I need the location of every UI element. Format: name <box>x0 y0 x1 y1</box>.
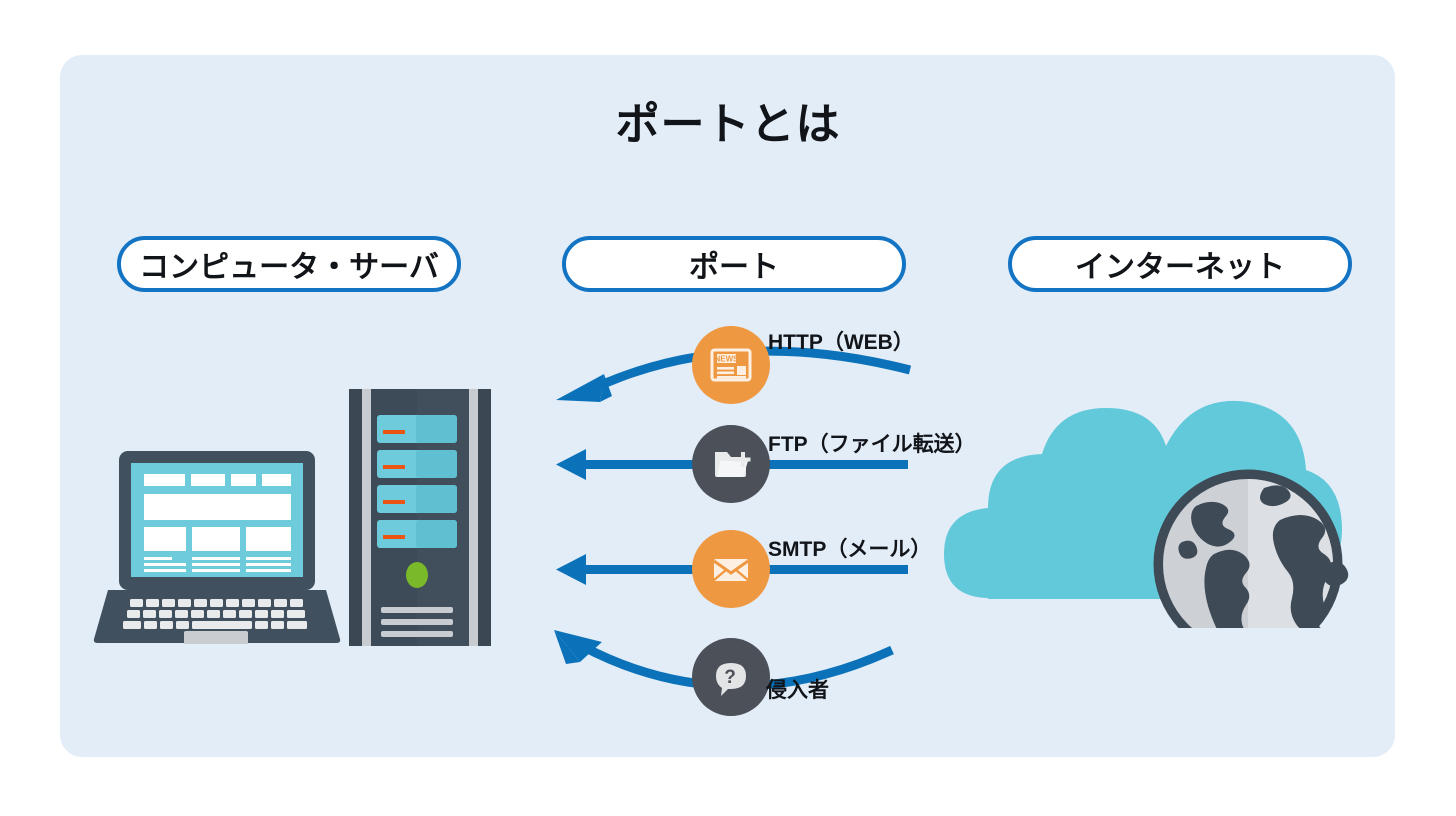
header-pill-computer-label: コンピュータ・サーバ <box>139 242 439 286</box>
smtp-port-icon-circle[interactable] <box>692 530 770 608</box>
newspaper-icon: NEWS <box>708 342 754 388</box>
port-row-intruder: ? 侵入者 <box>540 620 970 720</box>
ftp-port-icon-circle[interactable] <box>692 425 770 503</box>
laptop-illustration <box>92 449 342 644</box>
envelope-icon <box>708 546 754 592</box>
header-pill-port-label: ポート <box>689 242 779 286</box>
folder-plus-icon <box>708 441 754 487</box>
svg-text:?: ? <box>724 667 736 688</box>
svg-text:NEWS: NEWS <box>715 355 740 364</box>
header-pill-port[interactable]: ポート <box>562 236 906 292</box>
port-label-http: HTTP（WEB） <box>768 326 914 356</box>
port-label-ftp: FTP（ファイル転送） <box>768 428 976 458</box>
server-tower-illustration <box>345 385 495 650</box>
question-bubble-icon: ? <box>708 654 754 700</box>
port-row-http: NEWS HTTP（WEB） <box>540 318 970 418</box>
http-port-icon-circle[interactable]: NEWS <box>692 326 770 404</box>
page-title: ポートとは <box>0 88 1456 152</box>
header-pill-internet[interactable]: インターネット <box>1008 236 1352 292</box>
diagram-canvas: ポートとは コンピュータ・サーバ ポート インターネット <box>0 0 1456 816</box>
port-label-smtp: SMTP（メール） <box>768 533 931 563</box>
port-row-ftp: FTP（ファイル転送） <box>540 420 970 520</box>
header-pill-internet-label: インターネット <box>1075 242 1285 286</box>
port-label-intruder: 侵入者 <box>766 674 829 704</box>
header-pill-computer[interactable]: コンピュータ・サーバ <box>117 236 461 292</box>
internet-cloud-group <box>930 378 1350 628</box>
port-row-smtp: SMTP（メール） <box>540 525 970 625</box>
intruder-port-icon-circle[interactable]: ? <box>692 638 770 716</box>
